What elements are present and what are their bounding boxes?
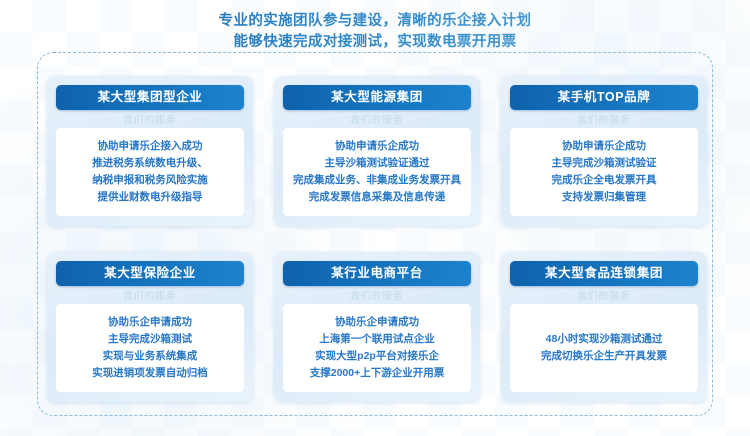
case-card-service-item: 主导完成沙箱测试	[60, 331, 240, 348]
page-title: 专业的实施团队参与建设，清晰的乐企接入计划 能够快速完成对接测试，实现数电票开用…	[0, 11, 750, 53]
case-card-body: 48小时实现沙箱测试通过完成切换乐企生产开具发票	[510, 304, 698, 392]
case-card-service-item: 协助乐企申请成功	[60, 314, 240, 331]
case-card-sublabel: 我们的服务	[283, 286, 471, 304]
case-card-header: 某行业电商平台	[283, 261, 471, 286]
case-card[interactable]: 某行业电商平台我们的服务协助乐企申请成功上海第一个联用试点企业实现大型p2p平台…	[274, 252, 480, 402]
case-card-service-item: 支持发票归集管理	[514, 189, 694, 206]
case-card-title: 某行业电商平台	[331, 267, 423, 280]
case-card-sublabel: 我们的服务	[510, 110, 698, 128]
case-card-service-item: 纳税申报和税务风险实施	[60, 172, 240, 189]
case-card-service-item: 推进税务系统数电升级、	[60, 155, 240, 172]
case-card-body: 协助申请乐企成功主导沙箱测试验证通过完成集成业务、非集成业务发票开具完成发票信息…	[283, 128, 471, 216]
case-card-title: 某手机TOP品牌	[558, 91, 651, 104]
case-card[interactable]: 某大型集团型企业我们的服务协助申请乐企接入成功推进税务系统数电升级、纳税申报和税…	[47, 76, 253, 226]
case-card-sublabel: 我们的服务	[56, 286, 244, 304]
case-card-sublabel: 我们的服务	[56, 110, 244, 128]
case-card-service-item: 协助申请乐企接入成功	[60, 138, 240, 155]
page-title-line-1: 专业的实施团队参与建设，清晰的乐企接入计划	[0, 11, 750, 32]
case-card-service-item: 完成发票信息采集及信息传递	[287, 189, 467, 206]
case-card-body: 协助申请乐企成功主导完成沙箱测试验证完成乐企全电发票开具支持发票归集管理	[510, 128, 698, 216]
case-card-service-item: 支撑2000+上下游企业开用票	[287, 365, 467, 382]
case-card-grid: 某大型集团型企业我们的服务协助申请乐企接入成功推进税务系统数电升级、纳税申报和税…	[47, 76, 707, 402]
case-card-service-item: 完成乐企全电发票开具	[514, 172, 694, 189]
case-card-service-item: 主导完成沙箱测试验证	[514, 155, 694, 172]
case-card-header: 某大型保险企业	[56, 261, 244, 286]
case-card-body: 协助乐企申请成功上海第一个联用试点企业实现大型p2p平台对接乐企支撑2000+上…	[283, 304, 471, 392]
case-card-header: 某手机TOP品牌	[510, 85, 698, 110]
case-card[interactable]: 某大型食品连锁集团我们的服务48小时实现沙箱测试通过完成切换乐企生产开具发票	[501, 252, 707, 402]
case-card-header: 某大型食品连锁集团	[510, 261, 698, 286]
case-card-service-item: 实现与业务系统集成	[60, 348, 240, 365]
case-card-title: 某大型食品连锁集团	[545, 267, 663, 280]
case-card-service-item: 提供业财数电升级指导	[60, 189, 240, 206]
case-card-body: 协助乐企申请成功主导完成沙箱测试实现与业务系统集成实现进销项发票自动归档	[56, 304, 244, 392]
case-card-service-item: 完成切换乐企生产开具发票	[514, 348, 694, 365]
case-card[interactable]: 某大型能源集团我们的服务协助申请乐企成功主导沙箱测试验证通过完成集成业务、非集成…	[274, 76, 480, 226]
slide-root: 专业的实施团队参与建设，清晰的乐企接入计划 能够快速完成对接测试，实现数电票开用…	[0, 0, 750, 436]
case-card[interactable]: 某大型保险企业我们的服务协助乐企申请成功主导完成沙箱测试实现与业务系统集成实现进…	[47, 252, 253, 402]
case-card[interactable]: 某手机TOP品牌我们的服务协助申请乐企成功主导完成沙箱测试验证完成乐企全电发票开…	[501, 76, 707, 226]
case-card-service-item: 协助申请乐企成功	[514, 138, 694, 155]
case-card-service-item: 协助申请乐企成功	[287, 138, 467, 155]
case-card-service-item: 主导沙箱测试验证通过	[287, 155, 467, 172]
case-card-title: 某大型能源集团	[331, 91, 423, 104]
case-card-service-item: 上海第一个联用试点企业	[287, 331, 467, 348]
case-card-sublabel: 我们的服务	[283, 110, 471, 128]
case-card-header: 某大型集团型企业	[56, 85, 244, 110]
case-card-sublabel: 我们的服务	[510, 286, 698, 304]
case-card-header: 某大型能源集团	[283, 85, 471, 110]
case-card-service-item: 实现进销项发票自动归档	[60, 365, 240, 382]
case-card-title: 某大型保险企业	[104, 267, 196, 280]
case-card-service-item: 实现大型p2p平台对接乐企	[287, 348, 467, 365]
case-card-body: 协助申请乐企接入成功推进税务系统数电升级、纳税申报和税务风险实施提供业财数电升级…	[56, 128, 244, 216]
case-card-title: 某大型集团型企业	[98, 91, 203, 104]
case-card-service-item: 48小时实现沙箱测试通过	[514, 331, 694, 348]
page-title-line-2: 能够快速完成对接测试，实现数电票开用票	[0, 32, 750, 53]
case-card-service-item: 协助乐企申请成功	[287, 314, 467, 331]
case-card-service-item: 完成集成业务、非集成业务发票开具	[287, 172, 467, 189]
